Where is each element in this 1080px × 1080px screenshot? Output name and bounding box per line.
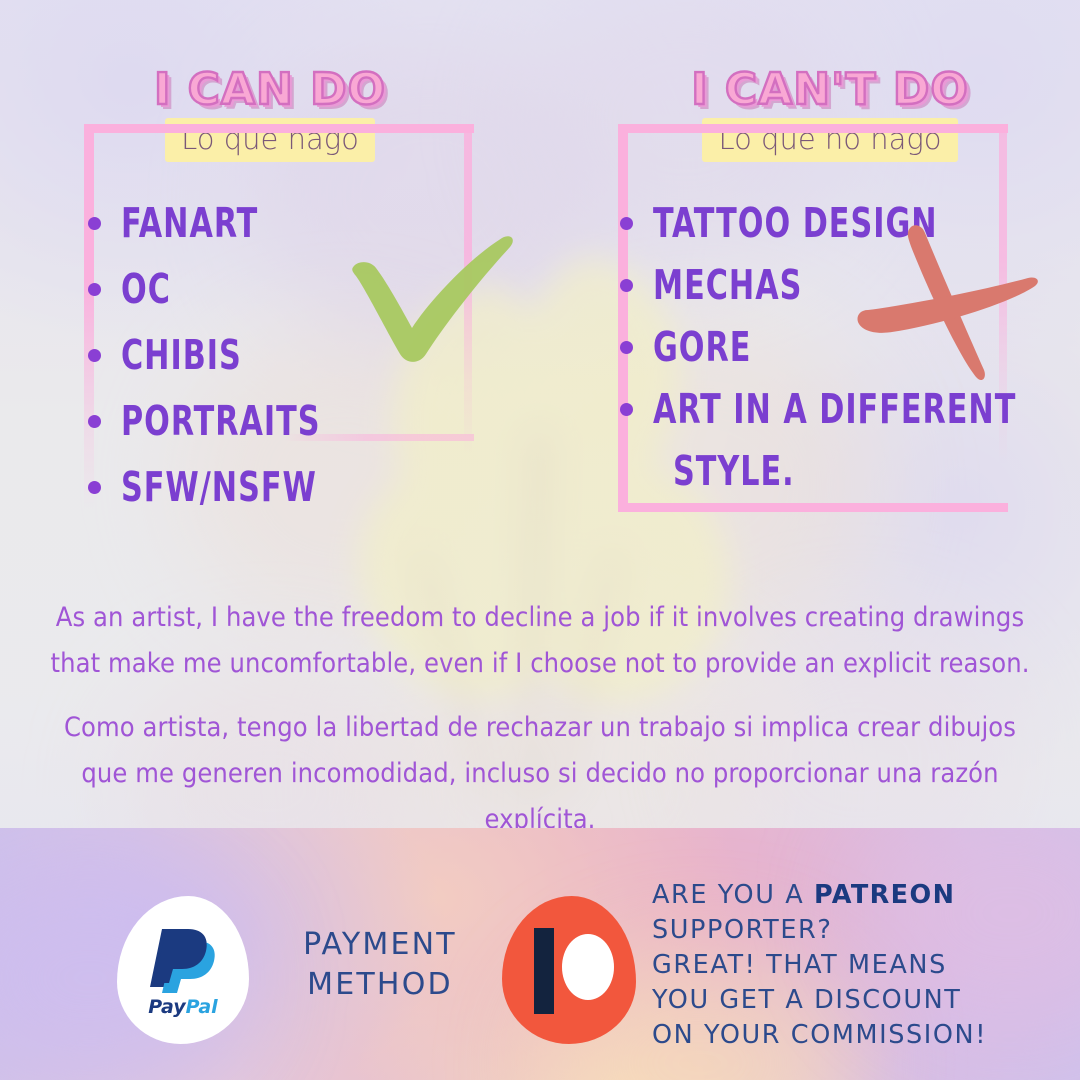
list-item: OC xyxy=(88,256,364,322)
list-item-label: PORTRAITS xyxy=(121,401,321,442)
list-item-label: MECHAS xyxy=(653,265,802,306)
left-column-list: FANART OC CHIBIS PORTRAITS SFW/NSFW xyxy=(88,190,364,520)
cross-mark-icon xyxy=(856,218,1046,388)
list-item-label: FANART xyxy=(121,203,258,244)
list-item: PORTRAITS xyxy=(88,388,364,454)
bullet-icon xyxy=(88,415,101,428)
patreon-message: ARE YOU A PATREON SUPPORTER? GREAT! THAT… xyxy=(652,878,1072,1053)
bullet-icon xyxy=(620,279,633,292)
disclaimer-spanish: Como artista, tengo la libertad de recha… xyxy=(50,705,1030,843)
paypal-wordmark-first: Pay xyxy=(148,996,185,1018)
patreon-bar-icon xyxy=(534,928,554,1014)
patreon-circle-icon xyxy=(562,934,614,1000)
patreon-message-line-2: SUPPORTER? xyxy=(652,913,1072,948)
poster-root: I CAN DO Lo que hago I CAN'T DO Lo que n… xyxy=(0,0,1080,1080)
patreon-message-line-1-prefix: ARE YOU A xyxy=(652,880,814,910)
list-item-label: OC xyxy=(121,269,171,310)
bullet-icon xyxy=(88,283,101,296)
patreon-brand-word: PATREON xyxy=(814,880,955,910)
list-item: SFW/NSFW xyxy=(88,454,364,520)
bullet-icon xyxy=(620,403,633,416)
left-column-title: I CAN DO xyxy=(60,68,480,112)
list-item-label: STYLE. xyxy=(673,451,795,492)
bullet-icon xyxy=(88,349,101,362)
paypal-wordmark-second: Pal xyxy=(186,996,218,1018)
list-item: FANART xyxy=(88,190,364,256)
patreon-message-line-1: ARE YOU A PATREON xyxy=(652,878,1072,913)
list-item-continuation: STYLE. xyxy=(620,440,1080,502)
paypal-wordmark: PayPal xyxy=(148,998,217,1017)
disclaimer-english: As an artist, I have the freedom to decl… xyxy=(50,595,1030,687)
list-item-label: CHIBIS xyxy=(121,335,242,376)
list-item-label: SFW/NSFW xyxy=(121,467,317,508)
paypal-glyph-icon xyxy=(146,923,220,993)
frame-edge-bottom xyxy=(618,503,1008,512)
frame-edge-top xyxy=(618,124,1008,133)
patreon-message-line-4: YOU GET A DISCOUNT xyxy=(652,983,1072,1018)
list-item-label: GORE xyxy=(653,327,751,368)
list-item-label: ART IN A DIFFERENT xyxy=(653,389,1016,430)
check-mark-icon xyxy=(344,228,524,368)
bullet-icon xyxy=(88,217,101,230)
patreon-message-line-5: ON YOUR COMMISSION! xyxy=(652,1018,1072,1053)
patreon-message-line-3: GREAT! THAT MEANS xyxy=(652,948,1072,983)
bullet-icon xyxy=(620,341,633,354)
bullet-icon xyxy=(88,481,101,494)
frame-edge-top xyxy=(84,124,474,133)
right-column-title: I CAN'T DO xyxy=(620,68,1040,112)
bullet-icon xyxy=(620,217,633,230)
payment-method-caption: PAYMENT METHOD xyxy=(270,925,490,1005)
list-item: CHIBIS xyxy=(88,322,364,388)
